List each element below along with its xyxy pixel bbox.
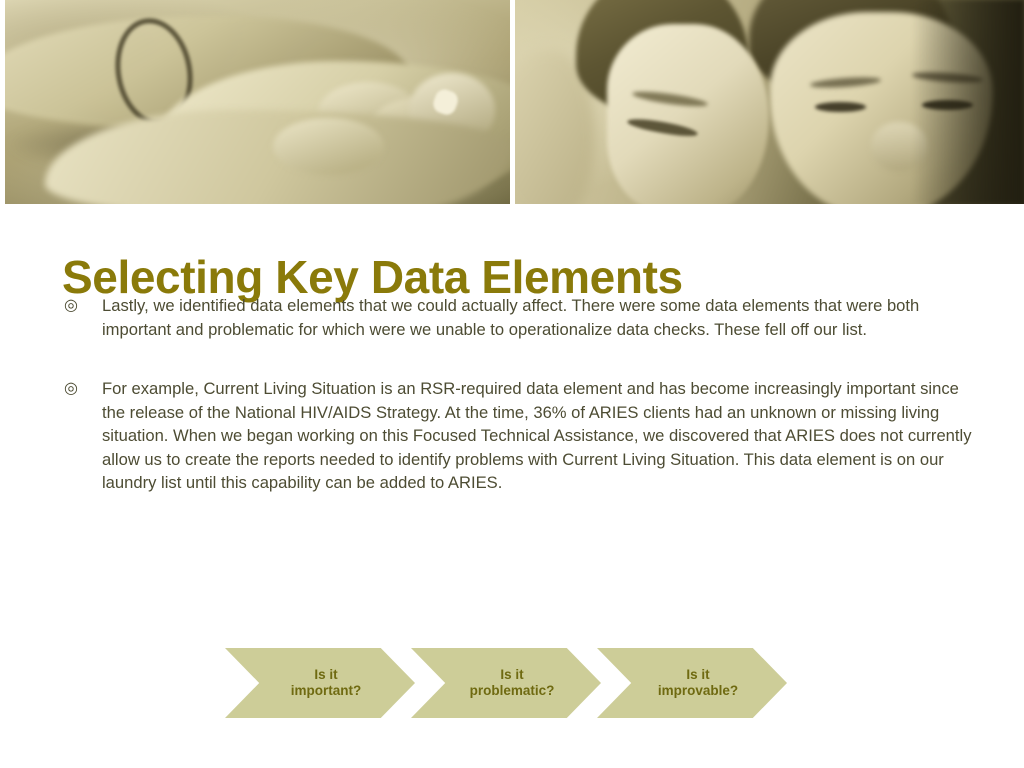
bullet-text: For example, Current Living Situation is… [102,377,978,495]
photo-faces-dark-vignette [912,0,1024,204]
bullet-item: ◎ For example, Current Living Situation … [58,377,978,495]
process-step-label: Is it important? [291,667,362,699]
process-chevron-group: Is it important? Is it problematic? Is i… [225,648,783,718]
slide-body: ◎ Lastly, we identified data elements th… [58,294,978,495]
photo-faces-left-face [607,24,770,204]
bullet-item: ◎ Lastly, we identified data elements th… [58,294,978,341]
bullseye-bullet-icon: ◎ [58,377,102,401]
photo-two-faces [515,0,1024,204]
process-step-label: Is it improvable? [658,667,738,699]
process-step-important: Is it important? [225,648,415,718]
process-step-problematic: Is it problematic? [411,648,601,718]
process-step-improvable: Is it improvable? [597,648,787,718]
header-image-banner [0,0,1024,204]
photo-clasped-hands [5,0,510,204]
process-step-label: Is it problematic? [470,667,555,699]
bullet-text: Lastly, we identified data elements that… [102,294,962,341]
bullseye-bullet-icon: ◎ [58,294,102,318]
photo-hands-finger-4 [273,118,384,175]
